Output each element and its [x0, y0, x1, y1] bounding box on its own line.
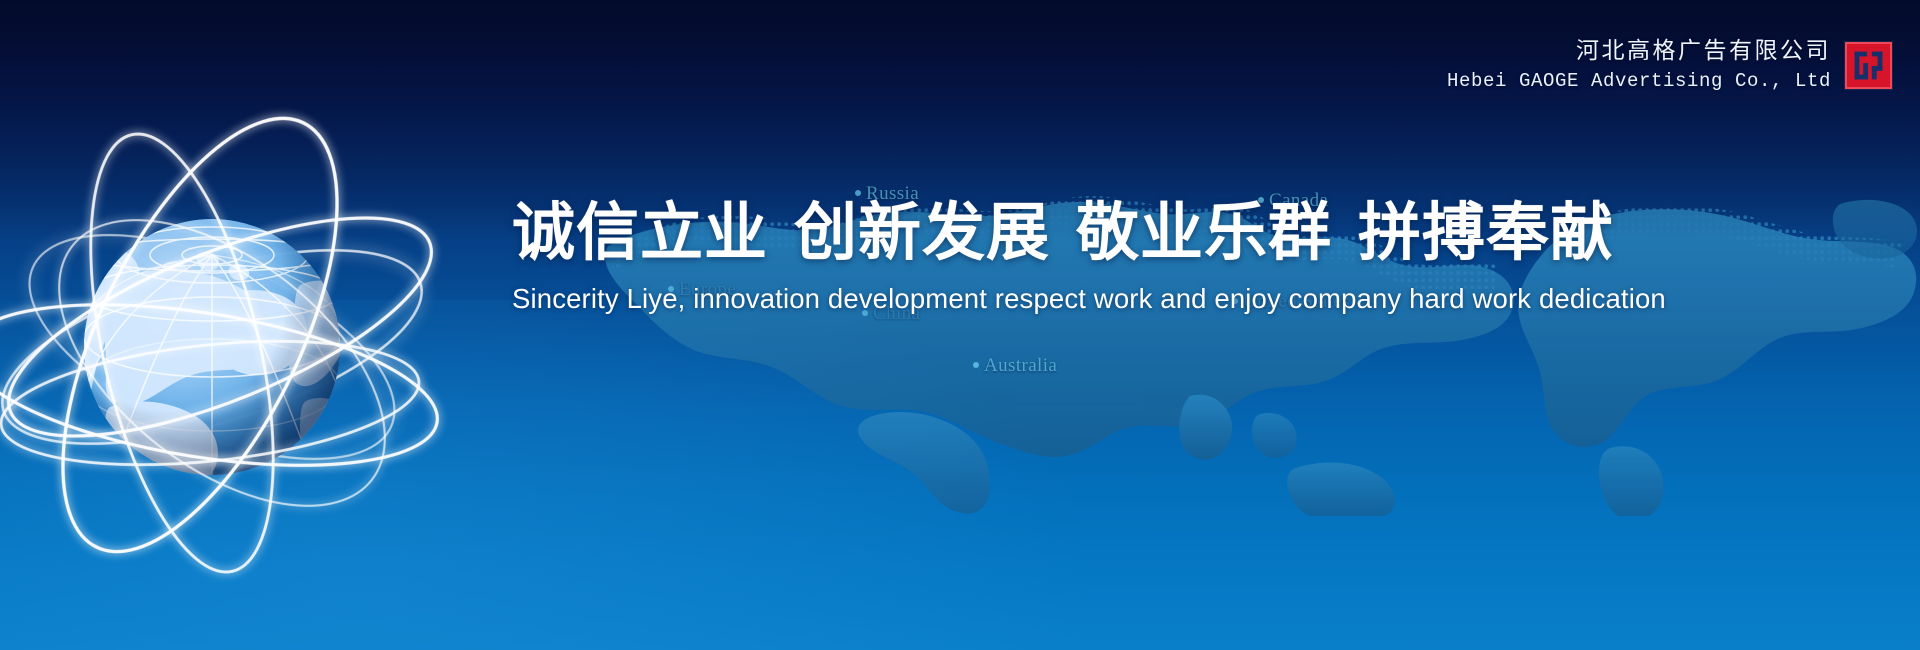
- slogan-english: Sincerity Liye, innovation development r…: [512, 283, 1902, 315]
- slogan-cn-part-2: 创新发展: [794, 196, 1050, 269]
- company-name-en: Hebei GAOGE Advertising Co., Ltd: [1447, 68, 1831, 94]
- map-label-australia: Australia: [973, 355, 1057, 377]
- slogan-chinese: 诚信立业创新发展敬业乐群拼搏奉献: [512, 198, 1902, 269]
- bottom-glow-overlay: [0, 300, 1200, 650]
- map-marker-dot: [973, 362, 979, 368]
- promotional-banner: Russia Canada Europe China United States…: [0, 0, 1920, 650]
- orbiting-globe-graphic: [0, 85, 440, 555]
- company-brand-block: 河北高格广告有限公司 Hebei GAOGE Advertising Co., …: [1447, 36, 1892, 95]
- company-name-cn: 河北高格广告有限公司: [1447, 36, 1831, 66]
- slogan-cn-part-4: 拼搏奉献: [1358, 196, 1614, 269]
- slogan-cn-part-1: 诚信立业: [512, 196, 768, 269]
- company-name-text: 河北高格广告有限公司 Hebei GAOGE Advertising Co., …: [1447, 36, 1831, 95]
- gaoge-logo-icon: [1845, 42, 1892, 89]
- map-marker-dot: [855, 190, 861, 196]
- slogan-block: 诚信立业创新发展敬业乐群拼搏奉献 Sincerity Liye, innovat…: [512, 198, 1902, 315]
- slogan-cn-part-3: 敬业乐群: [1076, 196, 1332, 269]
